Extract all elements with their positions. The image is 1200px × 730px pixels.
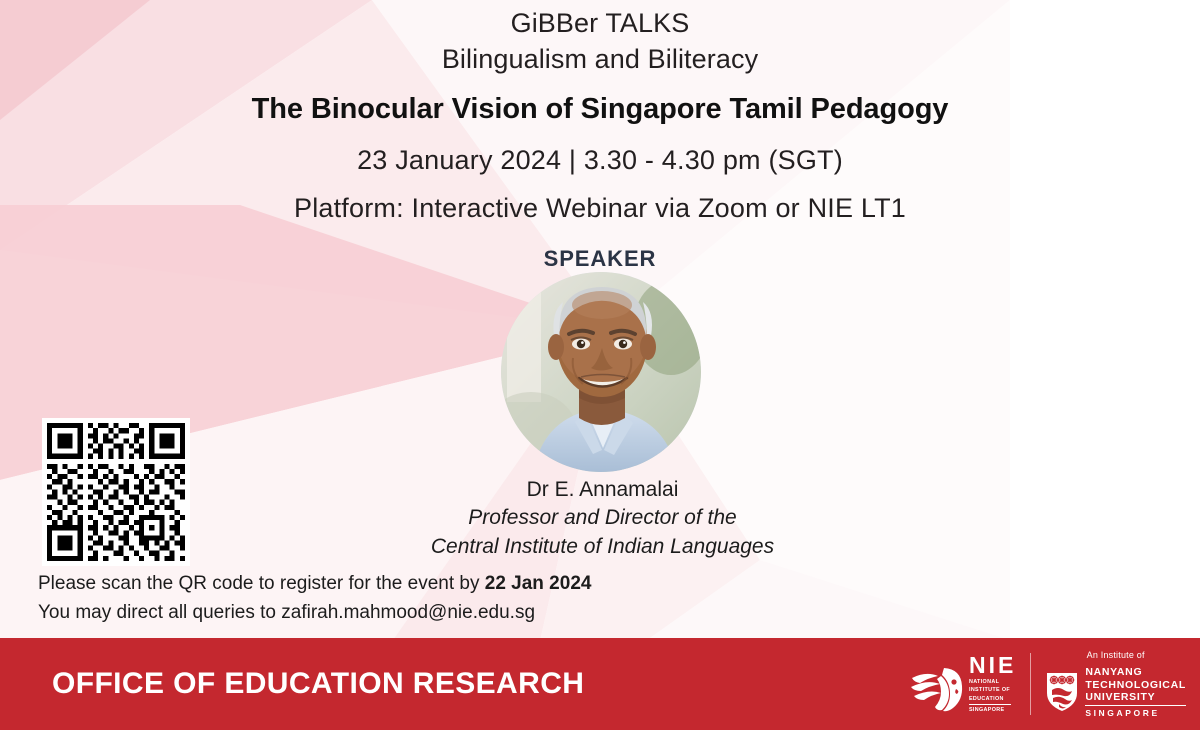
nie-subtext-line-2: INSTITUTE OF [969,687,1010,693]
ntu-lockup: NANYANG TECHNOLOGICAL UNIVERSITY SINGAPO… [1045,666,1186,717]
footer-bar: OFFICE OF EDUCATION RESEARCH [0,638,1200,730]
ntu-line-1: NANYANG [1085,666,1142,678]
speaker-role-line-1: Professor and Director of the [330,504,875,533]
ntu-shield-icon [1045,671,1079,713]
event-poster: GiBBer TALKS Bilingualism and Biliteracy… [0,0,1200,730]
registration-text: Please scan the QR code to register for … [38,573,485,594]
nie-logo: NIE NATIONAL INSTITUTE OF EDUCATION SING… [910,654,1016,713]
speaker-caption: Dr E. Annamalai Professor and Director o… [330,476,875,562]
ntu-line-3: UNIVERSITY [1085,691,1155,703]
ntu-logo: An Institute of [1045,650,1186,717]
registration-line-1: Please scan the QR code to register for … [38,570,591,599]
registration-deadline: 22 Jan 2024 [485,573,592,594]
footer-org-title: OFFICE OF EDUCATION RESEARCH [52,667,584,701]
header-text-block: GiBBer TALKS Bilingualism and Biliteracy… [0,0,1200,272]
nie-subtext-line-3: EDUCATION [969,696,1004,702]
series-name: GiBBer TALKS [0,0,1200,42]
speaker-section-label: SPEAKER [0,246,1200,272]
ntu-line-4: SINGAPORE [1085,705,1186,718]
speaker-role-line-2: Central Institute of Indian Languages [330,533,875,562]
registration-note: Please scan the QR code to register for … [38,570,591,628]
qr-code-image[interactable] [42,418,190,566]
ntu-wordmark: NANYANG TECHNOLOGICAL UNIVERSITY SINGAPO… [1085,666,1186,717]
an-institute-of-label: An Institute of [1087,650,1145,660]
nie-word: NIE [969,654,1016,677]
event-platform: Platform: Interactive Webinar via Zoom o… [0,191,1200,227]
nie-wordmark: NIE NATIONAL INSTITUTE OF EDUCATION SING… [969,654,1016,713]
nie-subtext-line-4: SINGAPORE [969,707,1005,713]
event-title: The Binocular Vision of Singapore Tamil … [0,91,1200,129]
speaker-photo [501,272,701,472]
portrait-illustration [501,272,701,472]
registration-line-2: You may direct all queries to zafirah.ma… [38,599,591,628]
nie-rule [969,704,1011,705]
series-topic: Bilingualism and Biliteracy [0,42,1200,78]
footer-logos: NIE NATIONAL INSTITUTE OF EDUCATION SING… [910,644,1186,724]
avatar [501,272,701,472]
logo-divider [1030,653,1031,715]
nie-lion-flame-icon [910,666,966,714]
nie-subtext: NATIONAL INSTITUTE OF EDUCATION SINGAPOR… [969,678,1011,713]
qr-code[interactable] [42,418,190,566]
ntu-line-2: TECHNOLOGICAL [1085,679,1186,691]
nie-subtext-line-1: NATIONAL [969,679,999,685]
event-datetime: 23 January 2024 | 3.30 - 4.30 pm (SGT) [0,143,1200,179]
speaker-name: Dr E. Annamalai [330,476,875,504]
